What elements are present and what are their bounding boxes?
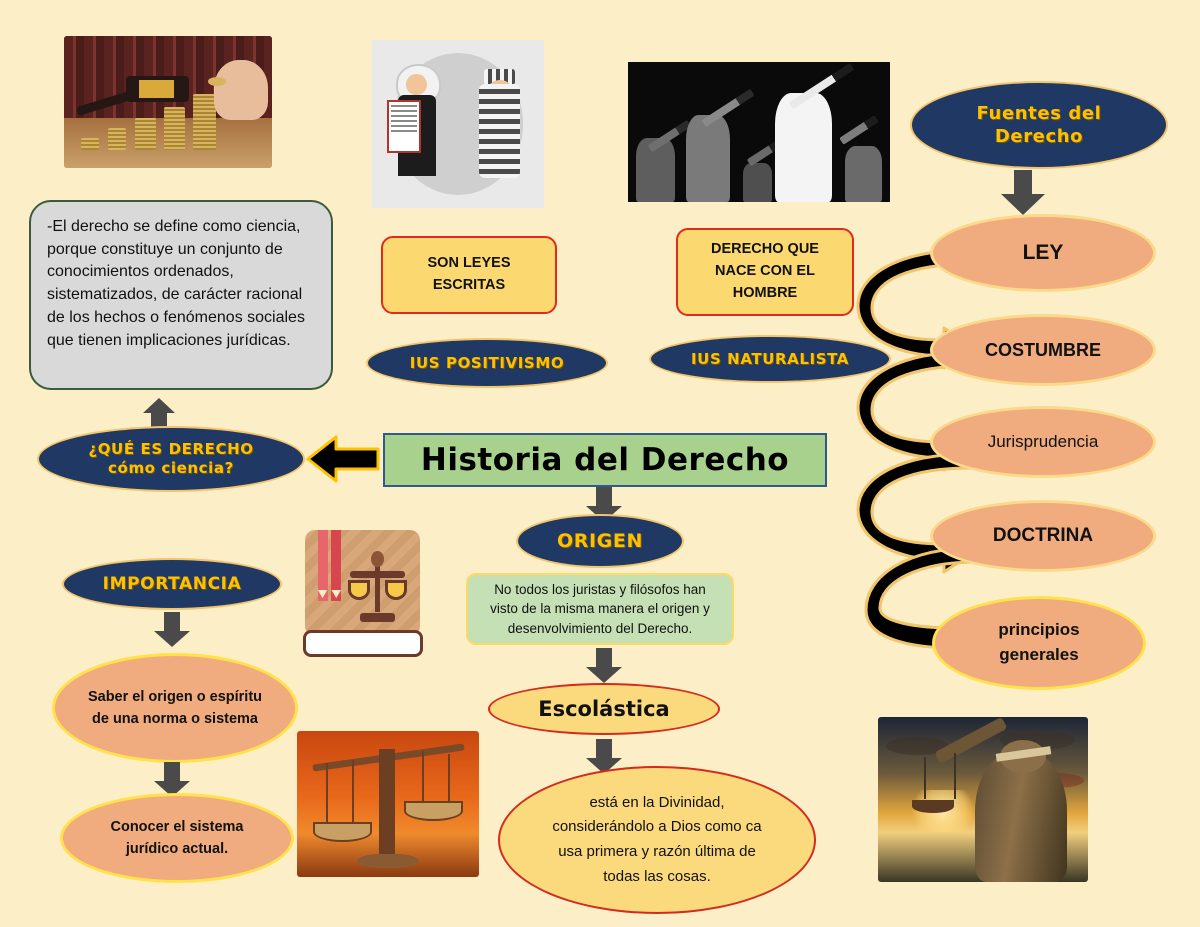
escolastica-node[interactable]: Escolástica <box>488 683 720 735</box>
origen-label: ORIGEN <box>557 530 643 552</box>
source-item-5[interactable]: principios generales <box>932 596 1146 690</box>
brass-scales-photo <box>297 731 479 877</box>
fists-pencils-illustration <box>628 62 890 202</box>
arrow-importancia-to-item1 <box>153 612 191 648</box>
source-item-3-label: Jurisprudencia <box>988 432 1099 452</box>
judge-prisoner-illustration <box>372 40 544 208</box>
arrow-title-to-question <box>306 434 380 484</box>
definition-box: -El derecho se define como ciencia, porq… <box>29 200 333 390</box>
question-line-2: cómo ciencia? <box>108 459 234 478</box>
escolastica-detail-text: está en la Divinidad, considerándolo a D… <box>542 791 772 890</box>
school-1-line-2: ESCRITAS <box>433 275 505 297</box>
importancia-label: IMPORTANCIA <box>103 574 242 594</box>
source-item-5-line-2: generales <box>999 643 1078 668</box>
school-1-node[interactable]: IUS POSITIVISMO <box>368 340 606 386</box>
school-2-line-3: HOMBRE <box>733 283 797 305</box>
school-2-line-1: DERECHO QUE <box>711 239 819 261</box>
source-item-2-label: COSTUMBRE <box>985 340 1101 361</box>
gavel-coins-photo <box>64 36 272 168</box>
importancia-item-2-text: Conocer el sistema jurídico actual. <box>89 816 265 861</box>
escolastica-detail-node: está en la Divinidad, considerándolo a D… <box>498 766 816 914</box>
law-book-scales-icon <box>300 525 425 660</box>
fuentes-node[interactable]: Fuentes del Derecho <box>912 83 1166 167</box>
page-title-text: Historia del Derecho <box>421 442 789 478</box>
origen-node[interactable]: ORIGEN <box>518 516 682 566</box>
lady-justice-photo <box>878 717 1088 882</box>
origen-statement-box: No todos los juristas y filósofos han vi… <box>466 573 734 645</box>
origen-statement-text: No todos los juristas y filósofos han vi… <box>480 580 720 637</box>
source-item-4[interactable]: DOCTRINA <box>930 500 1156 572</box>
escolastica-label: Escolástica <box>538 697 669 721</box>
source-item-3[interactable]: Jurisprudencia <box>930 406 1156 478</box>
importancia-node[interactable]: IMPORTANCIA <box>64 560 280 608</box>
importancia-item-1: Saber el origen o espíritu de una norma … <box>52 653 298 763</box>
arrow-statement-to-escolastica <box>585 648 623 684</box>
page-title: Historia del Derecho <box>383 433 827 487</box>
importancia-item-2: Conocer el sistema jurídico actual. <box>60 793 294 883</box>
school-1-box: SON LEYES ESCRITAS <box>381 236 557 314</box>
question-line-1: ¿QUÉ ES DERECHO <box>88 440 253 459</box>
arrow-fuentes-to-ley <box>1000 170 1046 216</box>
school-1-label: IUS POSITIVISMO <box>410 354 564 372</box>
school-2-label: IUS NATURALISTA <box>691 350 849 368</box>
source-item-1-label: LEY <box>1023 241 1064 265</box>
importancia-item-1-text: Saber el origen o espíritu de una norma … <box>83 686 267 731</box>
definition-text: -El derecho se define como ciencia, porq… <box>47 218 305 349</box>
fuentes-line-1: Fuentes del <box>977 102 1102 125</box>
fuentes-line-2: Derecho <box>995 125 1083 148</box>
source-item-5-line-1: principios <box>998 618 1079 643</box>
source-item-4-label: DOCTRINA <box>993 525 1093 547</box>
school-2-line-2: NACE CON EL <box>715 261 815 283</box>
source-item-2[interactable]: COSTUMBRE <box>930 314 1156 386</box>
question-node[interactable]: ¿QUÉ ES DERECHO cómo ciencia? <box>39 428 303 490</box>
source-item-1[interactable]: LEY <box>930 214 1156 292</box>
school-1-line-1: SON LEYES <box>428 253 511 275</box>
school-2-box: DERECHO QUE NACE CON EL HOMBRE <box>676 228 854 316</box>
